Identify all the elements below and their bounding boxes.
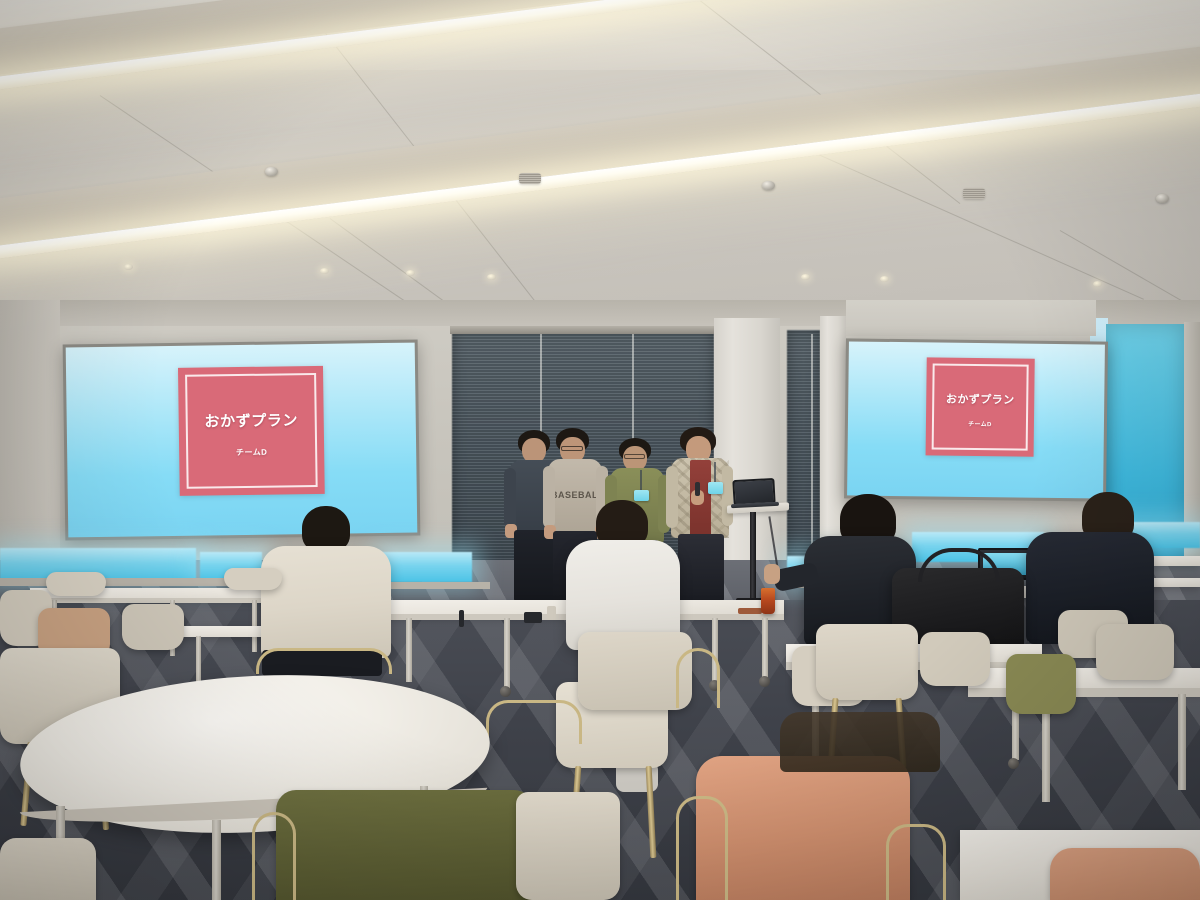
ceiling-light-cove-lower	[0, 38, 1200, 252]
table-back-left-edge	[30, 598, 270, 603]
wall-panel-left	[0, 300, 60, 590]
chair-terracotta-foreground[interactable]	[696, 756, 910, 900]
slide-card-right: おかずプラン チームD	[926, 357, 1035, 456]
recessed-downlight-icon	[124, 264, 133, 270]
blind-cord[interactable]	[811, 334, 813, 564]
attendee-3-hand	[764, 564, 780, 584]
glasses-icon	[624, 454, 645, 459]
sprinkler-head-icon	[762, 181, 775, 190]
presenter-4-arm-right	[722, 466, 733, 526]
projection-screen-right[interactable]: おかずプラン チームD	[844, 338, 1108, 501]
chair-olive-arm	[252, 812, 296, 900]
presenter-4-pants	[678, 534, 724, 602]
chair-dark-behind[interactable]	[780, 712, 940, 772]
presenter-1-pants	[514, 530, 556, 602]
chair-back-left-2[interactable]	[224, 568, 282, 590]
window-band-mid	[380, 552, 472, 582]
table-leg	[196, 636, 201, 684]
chair-beige-foreground[interactable]	[516, 792, 620, 900]
microphone-icon	[695, 482, 700, 496]
projection-screen-left[interactable]: おかずプラン チームD	[63, 340, 421, 541]
recessed-downlight-icon	[406, 270, 415, 276]
chair-behind-center[interactable]	[578, 632, 692, 710]
presenter-2-arm-left	[543, 466, 555, 528]
ceiling-vent-icon	[963, 188, 985, 199]
device-on-table[interactable]	[524, 612, 542, 623]
chair-terracotta-bottom-right[interactable]	[1050, 848, 1200, 900]
chair-right-2[interactable]	[816, 624, 918, 700]
table-leg	[504, 618, 510, 690]
chair-right-3[interactable]	[920, 632, 990, 686]
chair-olive-foreground[interactable]	[276, 790, 534, 900]
chair-center-arm	[486, 700, 582, 744]
snack-on-table[interactable]	[738, 608, 762, 614]
ceiling-vent-icon	[519, 173, 541, 184]
room-photo: おかずプラン チームD おかずプラン チームD	[0, 0, 1200, 900]
attendee-1-shirt	[261, 546, 391, 658]
recessed-downlight-icon	[880, 276, 889, 282]
chair-behind-arm	[676, 648, 720, 708]
table-leg	[406, 618, 412, 682]
table-caster	[1008, 758, 1019, 769]
oval-table-leg	[212, 820, 221, 900]
name-badge	[708, 482, 723, 494]
recessed-downlight-icon	[320, 268, 329, 274]
slide-card-left: おかずプラン チームD	[178, 366, 325, 496]
lanyard	[714, 462, 716, 484]
projection-screen-left-surface: おかずプラン チームD	[66, 343, 418, 538]
name-badge	[634, 490, 649, 501]
slide-card-border	[185, 373, 318, 489]
sprinkler-head-icon	[265, 167, 278, 176]
wall-above-right-screen	[846, 300, 1096, 336]
chair-terracotta-arm-left	[676, 796, 728, 900]
recessed-downlight-icon	[1093, 281, 1102, 287]
podium-post	[750, 512, 756, 600]
blind-headrail	[450, 326, 716, 334]
chair-olive-right[interactable]	[1006, 654, 1076, 714]
sprinkler-head-icon	[1156, 194, 1169, 203]
chair-back-left-1[interactable]	[46, 572, 106, 596]
slide-card-border	[932, 363, 1029, 450]
drink-cup[interactable]	[761, 588, 775, 614]
glasses-icon	[561, 446, 583, 451]
presenter-1-arm-left	[504, 468, 516, 528]
chair-terracotta-arm-right	[886, 824, 946, 900]
lanyard	[640, 470, 642, 492]
table-far-right-front-edge	[968, 688, 1200, 697]
pen-on-table[interactable]	[459, 610, 464, 627]
table-leg	[1178, 694, 1186, 790]
chair-right-5[interactable]	[1096, 624, 1174, 680]
projection-screen-right-surface: おかずプラン チームD	[847, 341, 1105, 498]
table-leg	[762, 618, 768, 680]
presenter-4-arm-left	[666, 466, 678, 528]
chair-bottom-left[interactable]	[0, 838, 96, 900]
small-item-on-table[interactable]	[547, 606, 556, 620]
presenter-2-shirt-text: BASEBALL	[551, 490, 599, 502]
recessed-downlight-icon	[487, 274, 496, 280]
table-caster	[500, 686, 511, 697]
recessed-downlight-icon	[801, 274, 810, 280]
ceiling	[0, 0, 1200, 310]
chair-left-mid[interactable]	[122, 604, 184, 650]
table-caster	[759, 676, 770, 687]
attendee-1-chair-arm	[256, 648, 392, 674]
